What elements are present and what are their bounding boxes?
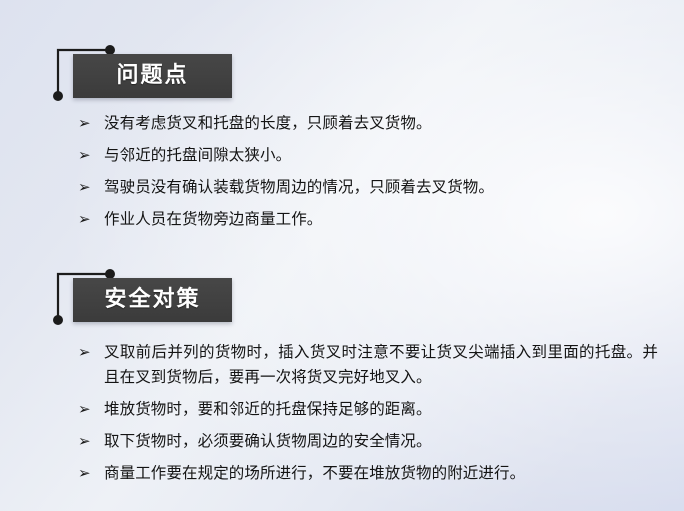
list-item-text: 叉取前后并列的货物时，插入货叉时注意不要让货叉尖端插入到里面的托盘。并且在叉到货…	[78, 340, 658, 390]
arrow-bullet-icon: ➢	[78, 207, 104, 231]
title-box-problem: 问题点	[73, 54, 232, 98]
bullet-list-problem: ➢ 没有考虑货叉和托盘的长度，只顾着去叉货物。 ➢ 与邻近的托盘间隙太狭小。 ➢…	[78, 111, 658, 232]
list-item-text: 没有考虑货叉和托盘的长度，只顾着去叉货物。	[104, 111, 658, 136]
title-text-safety: 安全对策	[104, 289, 200, 311]
list-item: ➢ 没有考虑货叉和托盘的长度，只顾着去叉货物。	[78, 111, 658, 136]
arrow-bullet-icon: ➢	[78, 429, 104, 453]
list-item-text: 取下货物时，必须要确认货物周边的安全情况。	[104, 429, 658, 454]
bullet-list-safety: ➢ 叉取前后并列的货物时，插入货叉时注意不要让货叉尖端插入到里面的托盘。并且在叉…	[78, 340, 658, 486]
title-text-problem: 问题点	[116, 65, 188, 87]
arrow-bullet-icon: ➢	[78, 397, 104, 421]
list-item-text: 堆放货物时，要和邻近的托盘保持足够的距离。	[104, 397, 658, 422]
heading-safety: 安全对策	[0, 264, 684, 324]
heading-problem: 问题点	[0, 40, 684, 100]
list-item: ➢ 与邻近的托盘间隙太狭小。	[78, 143, 658, 168]
arrow-bullet-icon: ➢	[78, 175, 104, 199]
list-item: ➢ 作业人员在货物旁边商量工作。	[78, 207, 658, 232]
list-item: ➢ 驾驶员没有确认装载货物周边的情况，只顾着去叉货物。	[78, 175, 658, 200]
arrow-bullet-icon: ➢	[78, 461, 104, 485]
list-item-text: 作业人员在货物旁边商量工作。	[104, 207, 658, 232]
list-item: ➢ 叉取前后并列的货物时，插入货叉时注意不要让货叉尖端插入到里面的托盘。并且在叉…	[78, 340, 658, 390]
list-item-text: 商量工作要在规定的场所进行，不要在堆放货物的附近进行。	[104, 461, 658, 486]
list-item-text: 驾驶员没有确认装载货物周边的情况，只顾着去叉货物。	[104, 175, 658, 200]
list-item-text: 与邻近的托盘间隙太狭小。	[104, 143, 658, 168]
section-safety: 安全对策 ➢ 叉取前后并列的货物时，插入货叉时注意不要让货叉尖端插入到里面的托盘…	[0, 264, 684, 324]
title-box-safety: 安全对策	[73, 278, 232, 322]
section-problem: 问题点 ➢ 没有考虑货叉和托盘的长度，只顾着去叉货物。 ➢ 与邻近的托盘间隙太狭…	[0, 40, 684, 100]
arrow-bullet-icon: ➢	[78, 143, 104, 167]
arrow-bullet-icon: ➢	[78, 111, 104, 135]
list-item: ➢ 堆放货物时，要和邻近的托盘保持足够的距离。	[78, 397, 658, 422]
slide-canvas: 问题点 ➢ 没有考虑货叉和托盘的长度，只顾着去叉货物。 ➢ 与邻近的托盘间隙太狭…	[0, 0, 684, 511]
list-item: ➢ 商量工作要在规定的场所进行，不要在堆放货物的附近进行。	[78, 461, 658, 486]
list-item: ➢ 取下货物时，必须要确认货物周边的安全情况。	[78, 429, 658, 454]
